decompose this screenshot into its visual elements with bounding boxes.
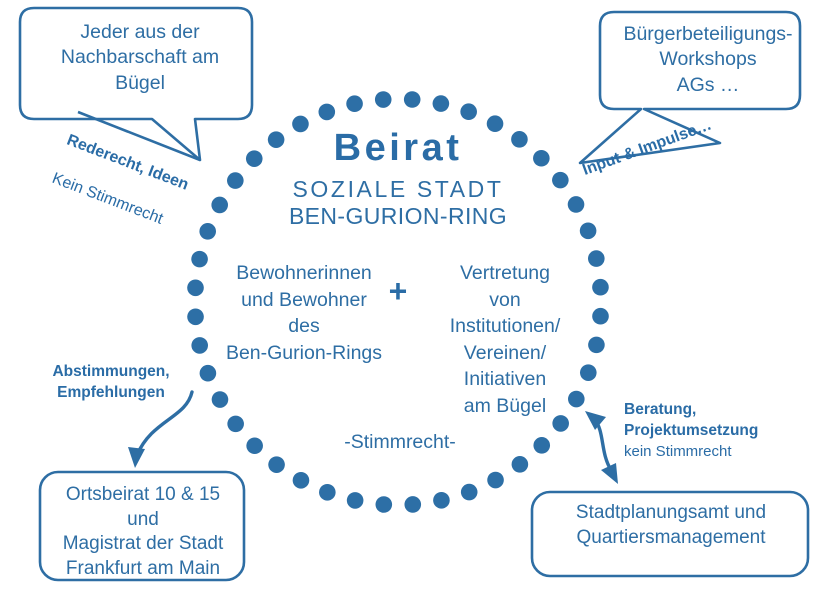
ring-dot (347, 492, 364, 509)
ring-dot (376, 496, 393, 513)
bubble-text-top-right: Bürgerbeteiligungs- Workshops AGs … (604, 22, 812, 98)
caption-abstimmungen-empfehlungen: Abstimmungen, Empfehlungen (38, 362, 184, 404)
page-subtitle-ben-gurion-ring: BEN-GURION-RING (230, 203, 566, 230)
plus-icon: + (381, 275, 415, 307)
caption-beratung-line1: Beratung, (624, 400, 804, 421)
ring-dot (346, 95, 363, 112)
voting-rights-note: -Stimmrecht- (292, 431, 508, 454)
ring-dot (588, 250, 605, 267)
ring-dot (580, 222, 597, 239)
caption-beratung-line3: kein Stimmrecht (624, 442, 804, 462)
ring-dot (211, 197, 228, 214)
arrow-ring-quartiersmanagement (585, 411, 618, 484)
ring-dot (268, 456, 285, 473)
ring-dot (191, 337, 208, 354)
ring-dot (199, 223, 216, 240)
ring-dot (487, 472, 504, 489)
ring-dot (568, 196, 585, 213)
ring-dot (433, 492, 450, 509)
ring-dot (588, 337, 605, 354)
ring-dot (375, 91, 392, 108)
ring-dot (404, 91, 421, 108)
ring-dot (533, 437, 550, 454)
ring-dot (460, 103, 477, 120)
member-group-institutions: Vertretung von Institutionen/ Vereinen/ … (424, 260, 586, 419)
ring-dot (319, 484, 336, 501)
ring-dot (227, 416, 244, 433)
ring-dot (187, 280, 204, 297)
ring-dot (592, 308, 609, 325)
caption-beratung-projektumsetzung: Beratung, Projektumsetzung kein Stimmrec… (624, 400, 804, 462)
box-text-ortsbeirat: Ortsbeirat 10 & 15 und Magistrat der Sta… (42, 483, 244, 582)
bubble-text-top-left: Jeder aus der Nachbarschaft am Bügel (38, 20, 242, 96)
ring-dot (433, 95, 450, 112)
ring-dot (212, 391, 229, 408)
box-text-stadtplanungsamt: Stadtplanungsamt und Quartiersmanagement (534, 501, 808, 550)
page-title: Beirat (230, 127, 566, 170)
ring-dot (187, 308, 204, 325)
ring-dot (404, 496, 421, 513)
page-subtitle-soziale-stadt: SOZIALE STADT (230, 176, 566, 203)
ring-dot (461, 484, 478, 501)
ring-dot (191, 251, 208, 268)
member-group-residents: Bewohnerinnen und Bewohner des Ben-Gurio… (216, 260, 392, 366)
diagram-canvas: Jeder aus der Nachbarschaft am Bügel Bür… (0, 0, 820, 600)
ring-dot (592, 279, 609, 296)
ring-dot (293, 472, 310, 489)
ring-dot (512, 456, 529, 473)
ring-dot (200, 365, 217, 382)
caption-beratung-line2: Projektumsetzung (624, 421, 804, 442)
ring-dot (318, 104, 335, 121)
ring-dot (246, 437, 263, 454)
